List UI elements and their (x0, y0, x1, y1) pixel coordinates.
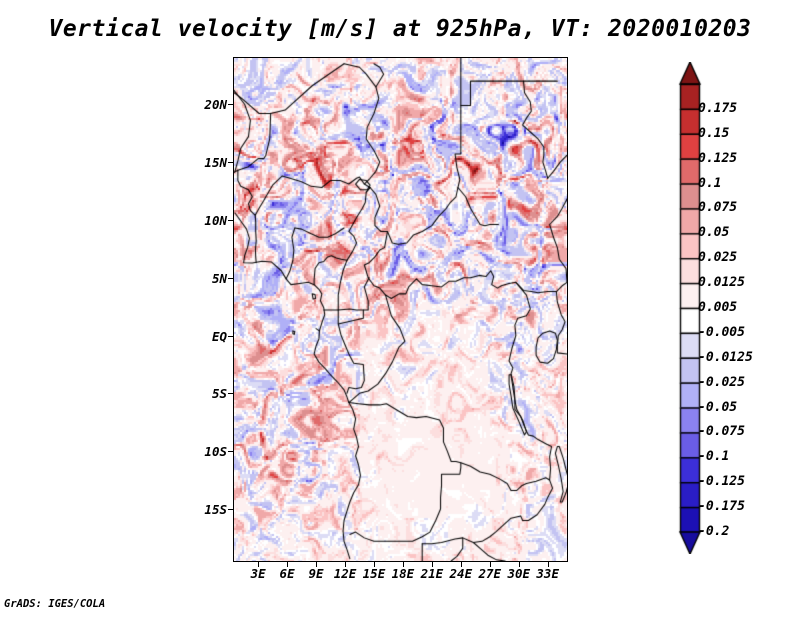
y-axis-tick (228, 336, 233, 337)
colorbar-tick-label: 0.15 (698, 126, 729, 141)
colorbar-tick-label: -0.125 (698, 474, 745, 489)
colorbar-tick-label: 0.1 (698, 176, 721, 191)
colorbar-tick-label: 0.075 (698, 200, 737, 215)
colorbar: 0.1750.150.1250.10.0750.050.0250.01250.0… (660, 60, 800, 560)
y-axis-label: 10S (167, 444, 227, 459)
y-axis-tick (228, 104, 233, 105)
y-axis-tick (228, 393, 233, 394)
y-axis-tick (228, 162, 233, 163)
colorbar-tick-label: -0.005 (698, 325, 745, 340)
colorbar-tick-label: 0.005 (698, 300, 737, 315)
colorbar-tick-label: -0.05 (698, 400, 737, 415)
grads-credit: GrADS: IGES/COLA (4, 598, 105, 610)
colorbar-tick-label: -0.175 (698, 499, 745, 514)
y-axis-tick (228, 451, 233, 452)
y-axis-label: 20N (167, 97, 227, 112)
y-axis-label: 5N (167, 271, 227, 286)
colorbar-tick-label: -0.075 (698, 424, 745, 439)
y-axis-tick (228, 220, 233, 221)
y-axis-label: 10N (167, 213, 227, 228)
y-axis-tick (228, 509, 233, 510)
colorbar-tick-label: -0.1 (698, 449, 729, 464)
colorbar-tick-label: 0.05 (698, 225, 729, 240)
colorbar-tick-label: 0.125 (698, 151, 737, 166)
colorbar-tick-label: 0.175 (698, 101, 737, 116)
colorbar-tick-label: -0.0125 (698, 350, 753, 365)
y-axis-tick (228, 278, 233, 279)
colorbar-tick-label: -0.2 (698, 524, 729, 539)
colorbar-tick-label: -0.025 (698, 375, 745, 390)
y-axis-label: 15S (167, 502, 227, 517)
y-axis-label: EQ (167, 329, 227, 344)
colorbar-tick-label: 0.0125 (698, 275, 745, 290)
colorbar-tick-label: 0.025 (698, 250, 737, 265)
y-axis-label: 5S (167, 386, 227, 401)
x-axis-label: 33E (528, 566, 568, 581)
y-axis-label: 15N (167, 155, 227, 170)
